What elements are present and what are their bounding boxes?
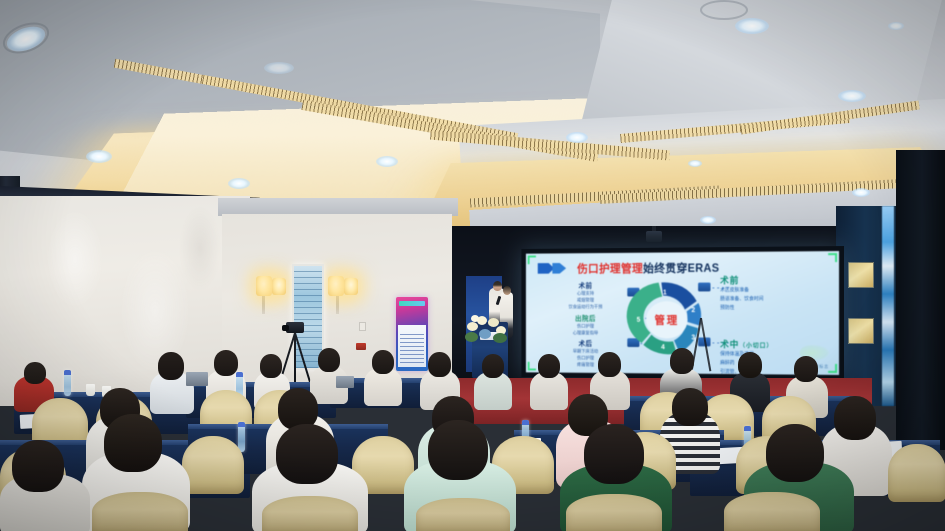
slide-right-line: 肠道准备、饮食时间	[720, 296, 833, 304]
wall-sconce	[328, 276, 344, 296]
presenter-second-head	[503, 286, 511, 295]
double-chevron-arrow-icon	[538, 262, 575, 275]
slide-left-line: 心理康复指导	[551, 330, 619, 337]
gold-decor-inset	[848, 318, 874, 344]
attendee-head	[104, 414, 162, 472]
conference-chair	[262, 496, 358, 531]
attendee-head	[276, 424, 338, 484]
gold-decor-inset	[848, 262, 874, 288]
slide-right-heading-2-main: 术中	[720, 340, 739, 350]
ceiling-downlight	[735, 18, 769, 34]
attendee-head	[834, 396, 876, 440]
flower	[488, 318, 499, 327]
wall-pillar-right	[896, 150, 945, 450]
attendee-head	[372, 350, 394, 374]
flower	[467, 322, 478, 331]
camera-lens-icon	[282, 325, 289, 331]
bottle-cap	[744, 426, 751, 431]
ceiling-downlight	[376, 156, 398, 167]
slide-connector-icon	[698, 283, 710, 292]
floral-arrangement	[463, 312, 509, 346]
bottle-cap	[238, 422, 245, 427]
vertical-light-strip	[882, 206, 894, 406]
panel-texture	[294, 266, 322, 368]
flower	[471, 315, 479, 322]
wall-socket	[359, 322, 366, 331]
slide-title-red: 伤口护理管理	[577, 263, 643, 275]
attendee-head	[428, 352, 451, 377]
ceiling-downlight	[566, 132, 588, 143]
ceiling-downlight-trim	[700, 0, 748, 20]
wall-exit-marker	[356, 343, 366, 350]
ceiling-downlight	[688, 160, 702, 167]
banner-schedule-rows	[400, 331, 424, 363]
ceiling-downlight	[700, 216, 716, 224]
attendee-head	[428, 420, 488, 480]
attendee-head	[260, 354, 282, 378]
slide-right-heading-2-suffix: （小切口）	[739, 344, 773, 350]
slide-right-heading-1: 术前	[720, 273, 833, 286]
attendee-head	[538, 354, 560, 378]
conference-chair	[888, 444, 945, 502]
attendee-head	[598, 352, 621, 377]
attendee-head	[214, 350, 238, 376]
attendee-head	[318, 348, 340, 372]
slide-left-heading-1: 术前	[551, 281, 619, 291]
ceiling-downlight	[86, 150, 112, 163]
calibration-corner-icon	[528, 256, 536, 265]
foliage	[465, 332, 478, 342]
flower	[479, 329, 491, 339]
roll-up-banner	[396, 297, 428, 371]
banner-header-bar	[399, 301, 425, 306]
attendee-head	[794, 356, 818, 382]
water-bottle	[64, 370, 71, 396]
calibration-corner-icon	[528, 362, 536, 371]
paper-cup	[86, 384, 95, 396]
slide-right-block-1: 术前 术区皮肤准备 肠道准备、饮食时间 预防性	[720, 273, 833, 312]
ceiling-downlight	[852, 188, 870, 197]
slide-right-line: 预防性	[720, 305, 833, 313]
attendee-head	[670, 348, 694, 374]
conference-chair	[724, 492, 820, 531]
conference-chair	[416, 498, 510, 531]
conference-chair	[182, 436, 244, 494]
attendee-head	[24, 362, 46, 384]
ceiling-downlight	[888, 22, 904, 30]
slide-left-heading-2: 出院后	[551, 314, 619, 324]
attendee-head	[738, 352, 762, 378]
wall-sconce	[256, 276, 272, 296]
attendee-head	[12, 440, 64, 492]
wall-sconce	[272, 278, 286, 295]
attendee-head	[672, 388, 708, 426]
conference-room-photo: 伤口护理管理始终贯穿ERAS 术前 心理支持 戒烟管理 饮食运动行为干预 出院后…	[0, 0, 945, 531]
attendee-head	[482, 354, 504, 378]
conference-chair	[566, 494, 662, 531]
laptop	[186, 372, 208, 386]
ceiling-downlight	[264, 62, 294, 74]
ceiling-projector	[646, 231, 662, 242]
bottle-cap	[522, 420, 529, 425]
conference-chair	[92, 492, 188, 531]
attendee-head	[584, 424, 644, 484]
banner-content-area	[398, 325, 426, 367]
calibration-corner-icon	[828, 253, 837, 262]
laptop	[336, 376, 354, 388]
attendee-head	[158, 352, 184, 380]
wall-sconce	[344, 278, 358, 295]
slide-left-line: 饮食运动行为干预	[551, 304, 619, 311]
foliage	[493, 333, 507, 343]
slide-right-line: 术区皮肤准备	[720, 287, 833, 295]
ceiling-downlight	[228, 178, 250, 189]
bottle-cap	[236, 372, 243, 377]
attendee-head	[766, 424, 824, 482]
ceiling-downlight	[838, 90, 866, 102]
presenter-head	[493, 281, 502, 291]
bottle-cap	[64, 370, 71, 375]
slide-title-black: 始终贯穿ERAS	[643, 263, 719, 275]
